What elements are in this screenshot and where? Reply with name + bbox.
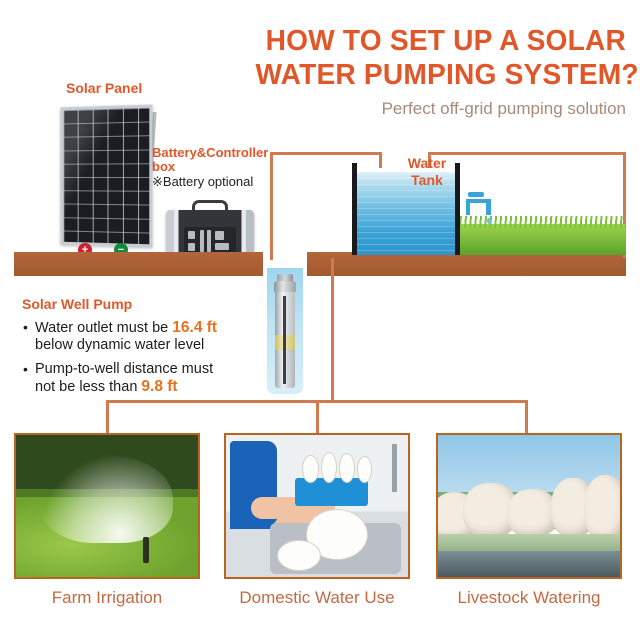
bullet-1-prefix: Water outlet must be [35, 320, 172, 336]
pump-info-title: Solar Well Pump [22, 296, 257, 312]
caption-domestic-water-use: Domestic Water Use [224, 588, 410, 608]
title-block: HOW TO SET UP A SOLAR WATER PUMPING SYST… [244, 24, 626, 120]
caption-livestock-watering: Livestock Watering [436, 588, 622, 608]
sprinkler-spray [41, 455, 172, 543]
faucet-knob [468, 192, 484, 197]
bullet-1-value: 16.4 ft [172, 319, 217, 336]
grass-patch [460, 224, 626, 255]
water-tank-label: Water Tank [392, 155, 462, 189]
branch-pipe-stem [331, 258, 334, 403]
caption-farm-irrigation: Farm Irrigation [14, 588, 200, 608]
branch-pipe-livestock [525, 400, 528, 434]
infographic-canvas: HOW TO SET UP A SOLAR WATER PUMPING SYST… [0, 0, 640, 632]
page-title-line-1: HOW TO SET UP A SOLAR [255, 24, 626, 58]
battery-outlet [215, 243, 229, 250]
page-title-line-2: WATER PUMPING SYSTEM? [255, 58, 626, 92]
battery-outlet [215, 231, 224, 240]
battery-display [207, 230, 211, 252]
bullet-2-value: 9.8 ft [141, 378, 177, 395]
solar-panel-label: Solar Panel [66, 80, 142, 96]
ground-layer-right [307, 252, 626, 276]
faucet-spout [486, 199, 491, 215]
battery-body [166, 210, 254, 256]
tank-feed-pipe-left [270, 152, 273, 260]
photo-livestock-watering [436, 433, 622, 579]
kitchen-tap-icon [392, 444, 397, 492]
solar-well-pump-icon [272, 274, 298, 390]
faucet-pipe [466, 199, 470, 215]
cow [584, 475, 622, 540]
battery-port [188, 231, 195, 239]
branch-pipe-farm [106, 400, 109, 434]
pump-info-block: Solar Well Pump Water outlet must be 16.… [22, 296, 257, 396]
bullet-2-prefix: Pump-to-well distance must [35, 361, 213, 377]
page-subtitle: Perfect off-grid pumping solution [244, 98, 626, 120]
solar-panel-icon [60, 105, 152, 248]
tank-feed-pipe-top [270, 152, 382, 155]
bullet-1-line2: below dynamic water level [35, 337, 204, 353]
photo-domestic-water-use [224, 433, 410, 579]
ground-layer-left [14, 252, 263, 276]
battery-controller-box-icon [166, 200, 254, 260]
branch-pipe-domestic [316, 400, 319, 434]
plate [321, 452, 337, 483]
battery-optional-note: ※Battery optional [152, 174, 253, 190]
battery-display [200, 230, 204, 252]
water-trough [438, 551, 620, 577]
plate [357, 456, 372, 483]
pump-shaft [283, 296, 286, 384]
water-drop-icon [487, 218, 491, 224]
sprinkler-head-icon [143, 537, 149, 563]
photo-farm-irrigation [14, 433, 200, 579]
bullet-2-line2-prefix: not be less than [35, 379, 141, 395]
tank-feed-pipe-drop [379, 152, 382, 168]
battery-port [188, 243, 195, 251]
pump-info-bullet-1: Water outlet must be 16.4 ft below dynam… [22, 319, 257, 354]
pump-info-bullet-2: Pump-to-well distance must not be less t… [22, 361, 257, 396]
solar-cells [63, 108, 149, 245]
plate-stack [277, 540, 321, 571]
plate [302, 455, 318, 483]
